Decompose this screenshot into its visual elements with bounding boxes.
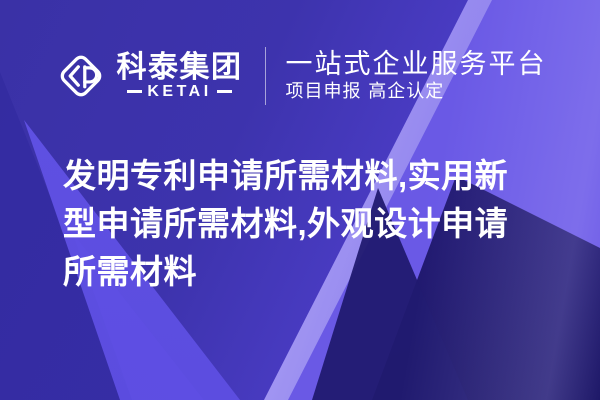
slogan-secondary: 项目申报 高企认定	[286, 82, 547, 102]
page-title: 发明专利申请所需材料,实用新型申请所需材料,外观设计申请所需材料	[63, 152, 541, 297]
banner-header: 科泰集团 KETAI 一站式企业服务平台 项目申报 高企认定	[0, 38, 600, 114]
vertical-divider-icon	[265, 47, 266, 105]
brand-name-cn: 科泰集团	[117, 53, 243, 83]
dash-icon	[127, 90, 142, 93]
dash-icon	[217, 90, 232, 93]
slogan-block: 一站式企业服务平台 项目申报 高企认定	[286, 50, 547, 102]
promo-banner: 科泰集团 KETAI 一站式企业服务平台 项目申报 高企认定 发明专利申请所需材…	[0, 0, 600, 400]
ketai-diamond-monogram-icon	[54, 49, 108, 103]
brand-wordmark: 科泰集团 KETAI	[117, 53, 243, 100]
brand-name-en-row: KETAI	[117, 84, 243, 100]
slogan-primary: 一站式企业服务平台	[286, 50, 547, 79]
brand-logo[interactable]: 科泰集团 KETAI	[54, 49, 243, 103]
brand-name-en: KETAI	[147, 84, 211, 100]
